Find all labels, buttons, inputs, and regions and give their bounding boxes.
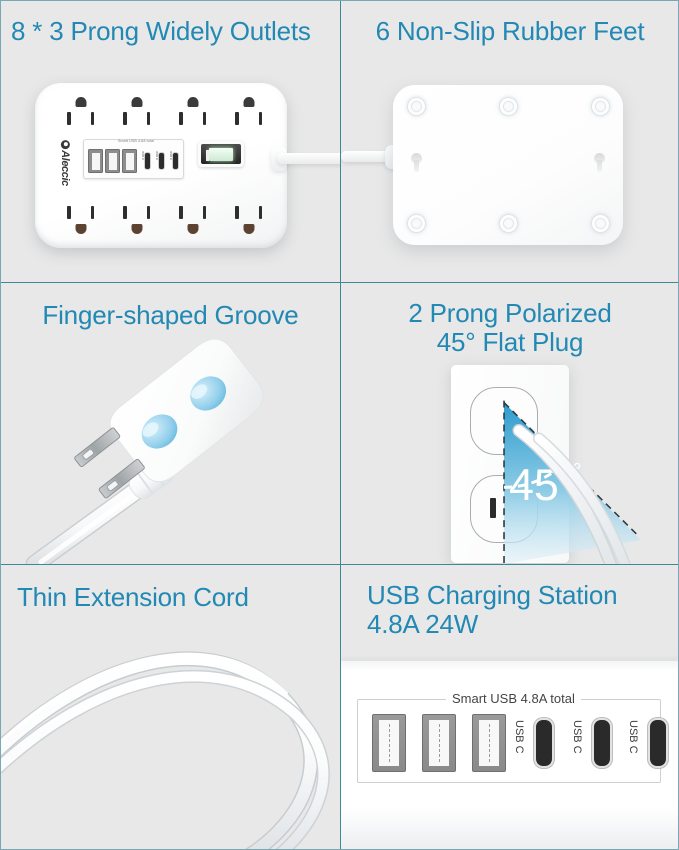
rubber-foot-4 <box>407 214 426 233</box>
ground-hole-icon <box>243 224 254 234</box>
hot-slot <box>259 206 263 219</box>
power-switch-rocker[interactable] <box>201 144 241 164</box>
outlet-top-4 <box>225 97 272 141</box>
ground-hole-icon <box>131 97 142 107</box>
strip-usb-a-port-1 <box>88 149 103 173</box>
neutral-slot <box>67 112 71 125</box>
feature-grid: 8 * 3 Prong Widely Outlets <box>1 1 678 849</box>
feature-title-line: USB Charging Station <box>367 581 679 610</box>
usb-a-port-1 <box>372 714 406 772</box>
rubber-foot-3 <box>591 97 610 116</box>
usb-group-caption: Smart USB 4.8A total <box>446 691 581 706</box>
rubber-foot-5 <box>499 214 518 233</box>
hot-slot <box>147 112 151 125</box>
brand-logo-text: Aleccic <box>59 140 71 186</box>
strip-usb-panel: Smart USB 4.8A total USB C USB C USB C <box>83 139 184 179</box>
ground-hole-icon <box>187 224 198 234</box>
rubber-foot-2 <box>499 97 518 116</box>
neutral-slot <box>235 112 239 125</box>
hot-slot <box>147 206 151 219</box>
strip-usb-c-port-2 <box>158 152 165 170</box>
outlet-bottom-4 <box>225 190 272 234</box>
feature-cell-prong-outlets: 8 * 3 Prong Widely Outlets <box>1 1 341 283</box>
usb-a-tongue <box>479 720 499 766</box>
hot-slot <box>259 112 263 125</box>
wall-mount-keyhole-2 <box>594 153 605 172</box>
hot-slot <box>91 206 95 219</box>
strip-power-cord <box>277 153 341 164</box>
feature-title-line: 4.8A 24W <box>367 610 679 639</box>
neutral-slot <box>123 112 127 125</box>
wall-mount-keyhole-1 <box>411 153 422 172</box>
rubber-foot-1 <box>407 97 426 116</box>
power-strip-underside <box>393 85 623 245</box>
strip-usb-a-port-3 <box>122 149 137 173</box>
outlet-top-2 <box>113 97 160 141</box>
ground-hole-icon <box>187 97 198 107</box>
usb-c-port-1 <box>534 718 554 768</box>
ground-hole-icon <box>243 97 254 107</box>
hot-slot <box>203 206 207 219</box>
ground-hole-icon <box>75 97 86 107</box>
usb-c-port-2 <box>592 718 612 768</box>
feature-grid-sheet: 8 * 3 Prong Widely Outlets <box>0 0 679 850</box>
power-switch-bar <box>206 150 209 161</box>
brand-logo: Aleccic <box>57 135 73 191</box>
strip-usb-c-port-3 <box>172 152 179 170</box>
hot-slot <box>203 112 207 125</box>
usb-c-port-3 <box>648 718 668 768</box>
feature-title-extension-cord: Thin Extension Cord <box>17 583 340 612</box>
feature-title-line: 2 Prong Polarized <box>341 299 679 328</box>
feature-title-finger-groove: Finger-shaped Groove <box>1 301 340 330</box>
outlet-bottom-3 <box>169 190 216 234</box>
feature-cell-finger-groove: Finger-shaped Groove <box>1 283 341 565</box>
feature-title-rubber-feet: 6 Non-Slip Rubber Feet <box>341 17 679 46</box>
usb-station-panel: Smart USB 4.8A total USB C USB C USB C <box>341 661 679 849</box>
rubber-foot-6 <box>591 214 610 233</box>
feature-title-line: Finger-shaped Groove <box>1 301 340 330</box>
usb-a-tongue <box>379 720 399 766</box>
feature-title-line: 8 * 3 Prong Widely Outlets <box>11 17 330 46</box>
feature-title-prong-outlets: 8 * 3 Prong Widely Outlets <box>11 17 330 46</box>
keyhole-stem <box>597 160 602 172</box>
neutral-slot <box>67 206 71 219</box>
feature-title-line: 45° Flat Plug <box>341 328 679 357</box>
outlet-top-3 <box>169 97 216 141</box>
power-switch-indicator <box>209 148 233 161</box>
feature-title-usb-station: USB Charging Station 4.8A 24W <box>367 581 679 640</box>
strip-usb-a-port-2 <box>105 149 120 173</box>
panel-top-edge <box>341 661 679 671</box>
usb-a-port-2 <box>422 714 456 772</box>
feature-title-line: 6 Non-Slip Rubber Feet <box>341 17 679 46</box>
feature-cell-rubber-feet: 6 Non-Slip Rubber Feet <box>341 1 679 283</box>
feature-cell-extension-cord: Thin Extension Cord <box>1 565 341 849</box>
usb-c-label-3: USB C <box>626 718 642 764</box>
outlet-bottom-1 <box>57 190 104 234</box>
strip-usb-c-port-1 <box>144 152 151 170</box>
ground-hole-icon <box>75 224 86 234</box>
neutral-slot <box>235 206 239 219</box>
power-switch[interactable] <box>198 141 244 167</box>
keyhole-stem <box>414 160 419 172</box>
feature-title-flat-plug: 2 Prong Polarized 45° Flat Plug <box>341 299 679 358</box>
brand-name: Aleccic <box>59 150 71 186</box>
usb-a-port-3 <box>472 714 506 772</box>
usb-port-group: Smart USB 4.8A total USB C USB C USB C <box>357 699 661 783</box>
brand-mark-icon <box>61 140 70 149</box>
feature-cell-flat-plug: 2 Prong Polarized 45° Flat Plug <box>341 283 679 565</box>
hot-slot <box>91 112 95 125</box>
usb-a-tongue <box>429 720 449 766</box>
usb-c-label-1: USB C <box>512 718 528 764</box>
outlet-bottom-2 <box>113 190 160 234</box>
neutral-slot <box>123 206 127 219</box>
ground-hole-icon <box>131 224 142 234</box>
feature-cell-usb-station: USB Charging Station 4.8A 24W Smart USB … <box>341 565 679 849</box>
power-strip-image: Aleccic Smart USB 4.8A total USB C USB C… <box>35 83 287 248</box>
strip-usb-caption: Smart USB 4.8A total <box>118 139 181 143</box>
neutral-slot <box>179 206 183 219</box>
feature-title-line: Thin Extension Cord <box>17 583 340 612</box>
neutral-slot <box>179 112 183 125</box>
usb-c-label-2: USB C <box>570 718 586 764</box>
